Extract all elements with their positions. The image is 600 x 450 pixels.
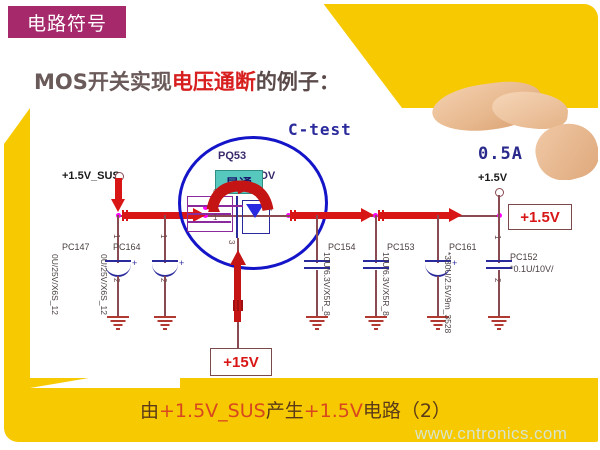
- cap-branch-wire: [164, 215, 166, 263]
- polarity-plus: +: [179, 258, 184, 268]
- mosfet-pin-divider: [187, 221, 231, 223]
- mosfet-drain-wire: [266, 215, 290, 217]
- mosfet-pin-1: 1: [213, 213, 217, 222]
- mosfet-pin-divider: [187, 213, 231, 215]
- component-ref-PC161: PC161: [449, 242, 477, 252]
- component-ref-PC152: PC152: [510, 252, 538, 262]
- component-value-PC154: 10U/6.3V/X5R_8: [322, 252, 332, 316]
- component-ref-PC153: PC153: [387, 242, 415, 252]
- cap-branch-wire: [437, 276, 439, 316]
- output-supply-label: +1.5V: [478, 172, 507, 184]
- gate-voltage-label: +15V: [223, 354, 258, 371]
- input-supply-label: +1.5V_SUS: [62, 170, 120, 182]
- output-voltage-box: +1.5V: [508, 204, 572, 230]
- caption-part-5: 电路（2）: [363, 400, 451, 422]
- cap-pin-2: 2: [112, 278, 121, 282]
- cap-pin-2: 2: [493, 278, 502, 282]
- subtitle: MOS开关实现电压通断的例子：: [34, 66, 340, 96]
- c-test-label: C-test: [288, 120, 352, 139]
- circuit-schematic: C-test 0.5A +1.5V_SUS PQ53 DDV: [0, 100, 600, 390]
- cap-pin-1: 1: [493, 235, 502, 239]
- component-ref-PC154: PC154: [328, 242, 356, 252]
- cap-pin-2: 2: [159, 278, 168, 282]
- page-title: 电路符号: [27, 9, 107, 36]
- cap-branch-wire: [498, 217, 500, 263]
- flow-arrow-out: [380, 210, 462, 221]
- input-flow-arrow: [113, 178, 124, 212]
- component-ref-PC147: PC147: [62, 242, 90, 252]
- component-value-PC164: 0U/25V/X6S_12: [99, 254, 109, 315]
- mosfet-reference-label: PQ53: [218, 150, 246, 162]
- cap-branch-wire: [316, 270, 318, 316]
- caption-part-1: 由: [140, 400, 159, 422]
- output-terminal: [495, 188, 504, 197]
- cap-pin-1: 1: [159, 234, 168, 238]
- gate-drive-arrow: [231, 250, 244, 322]
- site-watermark: www.cntronics.com: [415, 424, 567, 444]
- flow-arrow-mid: [292, 210, 374, 221]
- caption-part-3: 产生: [266, 400, 304, 422]
- cap-pin-1: 1: [112, 234, 121, 238]
- current-label: 0.5A: [478, 144, 523, 164]
- slide-canvas: 电路符号 MOS开关实现电压通断的例子： C-test 0.5A +1.5V_S…: [0, 0, 600, 450]
- subtitle-part-3: 的例子：: [256, 70, 340, 94]
- page-title-chip: 电路符号: [8, 6, 126, 38]
- polarity-plus: +: [132, 258, 137, 268]
- cap-branch-wire: [375, 270, 377, 316]
- cap-branch-wire: [117, 215, 119, 263]
- component-value-PC147: 0U/25V/X6S_12: [50, 254, 60, 315]
- subtitle-part-1: MOS开关实现: [34, 70, 172, 94]
- component-ref-PC164: PC164: [113, 242, 141, 252]
- component-value-PC153: 10U/6.3V/X5R_8: [381, 252, 391, 316]
- mosfet-pin-3: 3: [227, 240, 236, 244]
- cap-branch-wire: [498, 270, 500, 316]
- component-value-PC161: *330U/2.5V/9m_3528: [443, 252, 453, 333]
- footer-caption: 由+1.5V_SUS产生+1.5V电路（2）: [140, 396, 451, 423]
- subtitle-part-2: 电压通断: [172, 70, 256, 94]
- caption-part-2: +1.5V_SUS: [159, 400, 266, 422]
- cap-branch-wire: [375, 215, 377, 263]
- gate-voltage-box: +15V: [210, 348, 272, 376]
- cap-branch-wire: [437, 215, 439, 263]
- cap-branch-wire: [316, 215, 318, 263]
- component-value-PC152: *0.1U/10V/: [510, 264, 554, 274]
- output-voltage-label: +1.5V: [520, 209, 560, 226]
- output-terminal-wire: [498, 195, 500, 217]
- conduction-curve-arrow: [206, 178, 276, 212]
- caption-part-4: +1.5V: [304, 400, 363, 422]
